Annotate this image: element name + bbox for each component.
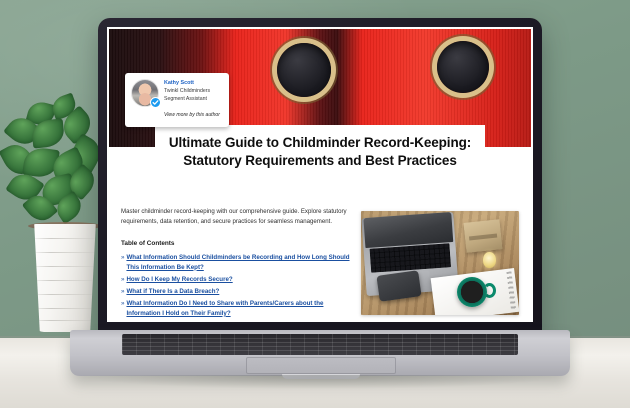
laptop-shadow bbox=[80, 375, 560, 389]
author-role: Twinkl Childminders Segment Assistant bbox=[164, 88, 222, 103]
chevron-right-icon: » bbox=[121, 321, 124, 322]
scene: Kathy Scott Twinkl Childminders Segment … bbox=[0, 0, 630, 408]
laptop-screen[interactable]: Kathy Scott Twinkl Childminders Segment … bbox=[107, 27, 533, 322]
author-text: Kathy Scott Twinkl Childminders Segment … bbox=[164, 79, 222, 121]
article-photo bbox=[361, 211, 519, 315]
photo-box bbox=[464, 219, 503, 253]
chevron-right-icon: » bbox=[121, 287, 124, 296]
page-title: Ultimate Guide to Childminder Record-Kee… bbox=[167, 134, 473, 170]
author-card[interactable]: Kathy Scott Twinkl Childminders Segment … bbox=[125, 73, 229, 127]
toc-item[interactable]: » What Information Should Childminders b… bbox=[121, 253, 351, 272]
laptop-trackpad[interactable] bbox=[246, 357, 396, 374]
toc-list: » What Information Should Childminders b… bbox=[121, 253, 351, 322]
photo-mug bbox=[457, 277, 487, 307]
porthole-right bbox=[437, 41, 489, 93]
article-excerpt: Master childminder record-keeping with o… bbox=[121, 207, 351, 227]
toc-item[interactable]: » How Do I Keep My Records Secure? bbox=[121, 275, 351, 284]
avatar-wrap bbox=[131, 79, 159, 107]
toc-link[interactable]: What Information Should Childminders be … bbox=[126, 253, 351, 272]
verified-badge-icon bbox=[150, 97, 161, 108]
toc-link[interactable]: What Information Do I Need to Share with… bbox=[126, 299, 351, 318]
toc-item[interactable]: » What if There Is a Data Breach? bbox=[121, 287, 351, 296]
toc-link[interactable]: What if There Is a Data Breach? bbox=[126, 287, 219, 296]
view-more-by-author-link[interactable]: View more by this author bbox=[164, 112, 220, 118]
chevron-right-icon: » bbox=[121, 275, 124, 284]
author-name: Kathy Scott bbox=[164, 80, 222, 87]
toc-heading: Table of Contents bbox=[121, 240, 351, 247]
title-card: Ultimate Guide to Childminder Record-Kee… bbox=[155, 125, 485, 181]
laptop-lid: Kathy Scott Twinkl Childminders Segment … bbox=[98, 18, 542, 336]
toc-item[interactable]: » What Information Do I Need to Share wi… bbox=[121, 299, 351, 318]
article-left-column: Master childminder record-keeping with o… bbox=[121, 207, 351, 322]
chevron-right-icon: » bbox=[121, 253, 124, 272]
photo-laptop-lid bbox=[363, 212, 453, 248]
laptop-keyboard[interactable] bbox=[122, 334, 518, 355]
photo-lightbulb bbox=[483, 252, 496, 268]
toc-link[interactable]: What if I'm Not Childminding Anymore? bbox=[126, 321, 242, 322]
toc-item[interactable]: » What if I'm Not Childminding Anymore? bbox=[121, 321, 351, 322]
article-body: Master childminder record-keeping with o… bbox=[109, 197, 531, 322]
chevron-right-icon: » bbox=[121, 299, 124, 318]
article-right-column bbox=[361, 207, 519, 322]
photo-laptop-keyboard bbox=[370, 243, 451, 273]
porthole-left bbox=[277, 43, 331, 97]
laptop: Kathy Scott Twinkl Childminders Segment … bbox=[70, 18, 570, 396]
photo-notebook-spiral bbox=[506, 271, 516, 309]
toc-link[interactable]: How Do I Keep My Records Secure? bbox=[126, 275, 232, 284]
